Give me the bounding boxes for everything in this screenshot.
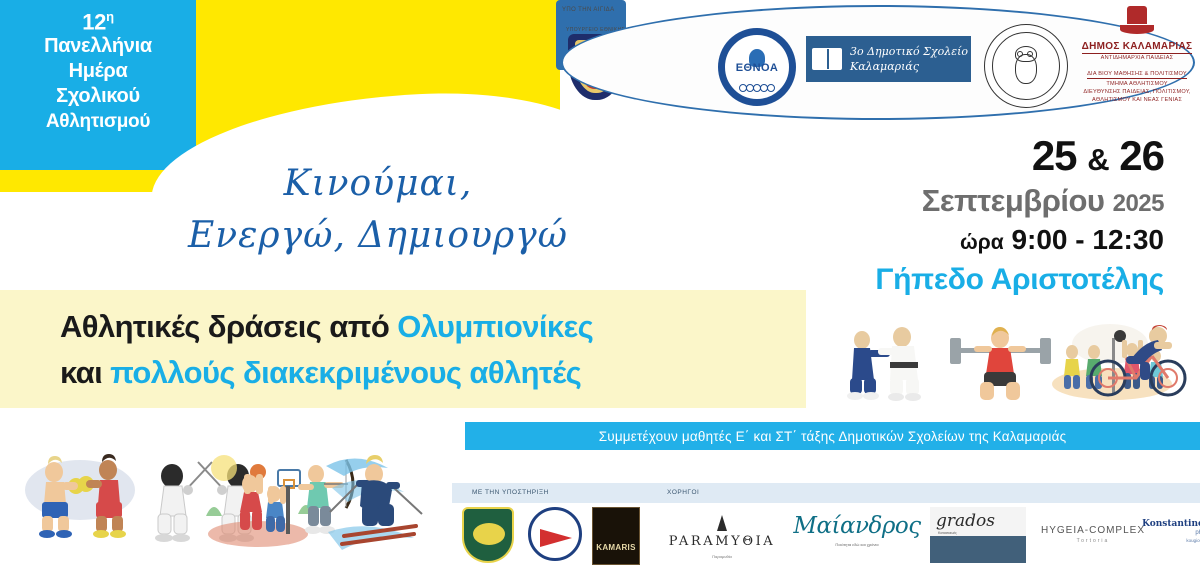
event-month: Σεπτεμβρίου	[922, 183, 1105, 218]
sponsor-photography-sub: photography	[1142, 530, 1200, 536]
school-name-line-2: Καλαμαριάς	[850, 59, 968, 74]
cycling-illustration-icon	[1086, 322, 1196, 404]
sponsor-logo-paramythia: PARAMYΘIA Παραμυθία	[662, 515, 782, 560]
weightlifting-illustration-icon	[948, 322, 1058, 404]
aegis-label: ΥΠΟ ΤΗΝ ΑΙΓΙΔΑ	[562, 7, 614, 13]
municipality-line-4: ΔΙΕΥΘΥΝΣΗΣ ΠΑΙΔΕΙΑΣ, ΠΟΛΙΤΙΣΜΟΥ,	[1076, 88, 1198, 96]
title-line-4: Αθλητισμού	[46, 109, 150, 134]
event-time-range: 9:00 - 12:30	[1011, 224, 1164, 255]
logo-bar: ΥΠΟ ΤΗΝ ΑΙΓΙΔΑ ΥΠΟΥΡΓΕΙΟ ΕΘΝΙΚΗΣ ΑΜΥΝΑΣ …	[556, 0, 1200, 125]
event-time-prefix: ώρα	[960, 231, 1004, 254]
sponsor-logo-grados: grados Κατασκευές	[930, 507, 1026, 563]
municipality-line-3: ΤΜΗΜΑ ΑΘΛΗΤΙΣΜΟΥ	[1076, 80, 1198, 88]
sponsor-paramythia-text: PARAMYΘIA	[662, 534, 782, 549]
event-day-1: 25	[1032, 132, 1077, 179]
municipality-logo-block: ΔΗΜΟΣ ΚΑΛΑΜΑΡΙΑΣ ΑΝΤΙΔΗΜΑΡΧΙΑ ΠΑΙΔΕΙΑΣ Δ…	[1076, 6, 1198, 104]
skiing-illustration-icon	[322, 448, 432, 553]
event-title-block: 12η Πανελλήνια Ημέρα Σχολικού Αθλητισμού	[0, 0, 196, 170]
judo-illustration-icon	[840, 322, 960, 404]
sponsor-grados-sub: Κατασκευές	[930, 531, 1026, 536]
event-details-block: 25 & 26 Σεπτεμβρίου 2025 ώρα 9:00 - 12:3…	[784, 134, 1164, 300]
sponsor-hygeia-sub: Tortoria	[1038, 538, 1148, 544]
ordinal-suffix: η	[106, 9, 114, 24]
sports-illustration-left	[22, 448, 422, 558]
municipality-line-5: ΑΘΛΗΤΙΣΜΟΥ ΚΑΙ ΝΕΑΣ ΓΕΝΙΑΣ	[1076, 96, 1198, 104]
sponsor-grados-text: grados	[930, 507, 1026, 531]
sponsor-logo-yacht-club	[528, 507, 582, 563]
headline-highlight-2: πολλούς διακεκριμένους αθλητές	[110, 355, 581, 390]
headline-part-1: Αθλητικές δράσεις από	[60, 309, 397, 344]
sponsor-maiandros-sub: Ποιότητα εδώ και χρόνια	[792, 542, 922, 548]
ethnoa-logo-icon: ΕΘΝΟΑ	[718, 28, 796, 106]
event-venue: Γήπεδο Αριστοτέλης	[784, 260, 1164, 300]
school-logo-banner: 3ο Δημοτικό Σχολείο Καλαμαριάς	[806, 36, 971, 82]
slogan-line-2: Ενεργώ, Δημιουργώ	[168, 210, 588, 262]
ethnoa-logo-text: ΕΘΝΟΑ	[725, 62, 789, 74]
municipality-title: ΔΗΜΟΣ ΚΑΛΑΜΑΡΙΑΣ	[1082, 41, 1193, 54]
sponsors-label: ΧΟΡΗΓΟΙ	[667, 489, 699, 496]
poster-canvas: 12η Πανελλήνια Ημέρα Σχολικού Αθλητισμού…	[0, 0, 1200, 565]
spire-icon	[717, 515, 727, 531]
sponsor-logo-aris	[462, 507, 514, 563]
boxing-illustration-icon	[22, 448, 140, 548]
sponsor-logo-row: KAMARIS PARAMYΘIA Παραμυθία Μαίανδρος Πο…	[452, 503, 1200, 565]
ship-icon	[1120, 6, 1154, 34]
slogan-line-1: Κινούμαι,	[168, 158, 588, 210]
event-month-year: Σεπτεμβρίου 2025	[784, 182, 1164, 223]
sponsor-logo-kamaris: KAMARIS	[592, 507, 640, 565]
municipality-line-2: ΔΙΑ ΒΙΟΥ ΜΑΘΗΣΗΣ & ΠΟΛΙΤΙΣΜΟΥ	[1087, 70, 1187, 79]
sponsor-hygeia-text: HYGEIA-COMPLEX	[1038, 525, 1148, 536]
municipality-line-1: ΑΝΤΙΔΗΜΑΡΧΙΑ ΠΑΙΔΕΙΑΣ	[1076, 54, 1198, 62]
sponsor-logo-photography: Konstantinos Kougioumtzis photography ko…	[1142, 519, 1200, 543]
title-line-3: Σχολικού	[56, 84, 140, 109]
participants-text: Συμμετέχουν μαθητές Ε΄ και ΣΤ΄ τάξης Δημ…	[599, 429, 1067, 444]
book-icon	[812, 48, 842, 70]
support-label: ΜΕ ΤΗΝ ΥΠΟΣΤΗΡΙΞΗ	[472, 489, 549, 496]
title-line-1: Πανελλήνια	[44, 34, 152, 59]
sponsor-paramythia-sub: Παραμυθία	[662, 554, 782, 560]
title-line-2: Ημέρα	[69, 59, 128, 84]
event-time: ώρα 9:00 - 12:30	[784, 223, 1164, 260]
slogan: Κινούμαι, Ενεργώ, Δημιουργώ	[168, 158, 588, 262]
sponsor-logo-hygeia: HYGEIA-COMPLEX Tortoria	[1038, 525, 1148, 544]
sponsor-logo-maiandros: Μαίανδρος Ποιότητα εδώ και χρόνια	[792, 513, 922, 548]
sponsor-kamaris-text: KAMARIS	[593, 543, 639, 552]
sponsor-photography-email: kougioumtzis@gmail.com	[1142, 538, 1200, 543]
participants-banner: Συμμετέχουν μαθητές Ε΄ και ΣΤ΄ τάξης Δημ…	[465, 422, 1200, 450]
event-ordinal: 12η	[82, 4, 114, 34]
event-year: 2025	[1113, 190, 1164, 217]
headline-highlight-1: Ολυμπιονίκες	[397, 309, 593, 344]
event-day-2: 26	[1119, 132, 1164, 179]
sports-illustration-right	[840, 322, 1190, 404]
sponsors-strip: ΜΕ ΤΗΝ ΥΠΟΣΤΗΡΙΞΗ ΧΟΡΗΓΟΙ	[452, 483, 1200, 503]
sponsor-photography-name: Konstantinos Kougioumtzis	[1142, 519, 1200, 529]
school-name-line-1: 3ο Δημοτικό Σχολείο	[850, 44, 968, 59]
headline-text: Αθλητικές δράσεις από Ολυμπιονίκες και π…	[60, 304, 800, 396]
sponsor-maiandros-text: Μαίανδρος	[792, 513, 922, 539]
headline-part-2: και	[60, 355, 110, 390]
event-dates: 25 & 26	[784, 134, 1164, 182]
event-day-separator: &	[1087, 142, 1108, 177]
ordinal-number: 12	[82, 9, 106, 34]
owl-seal-icon	[984, 24, 1068, 108]
